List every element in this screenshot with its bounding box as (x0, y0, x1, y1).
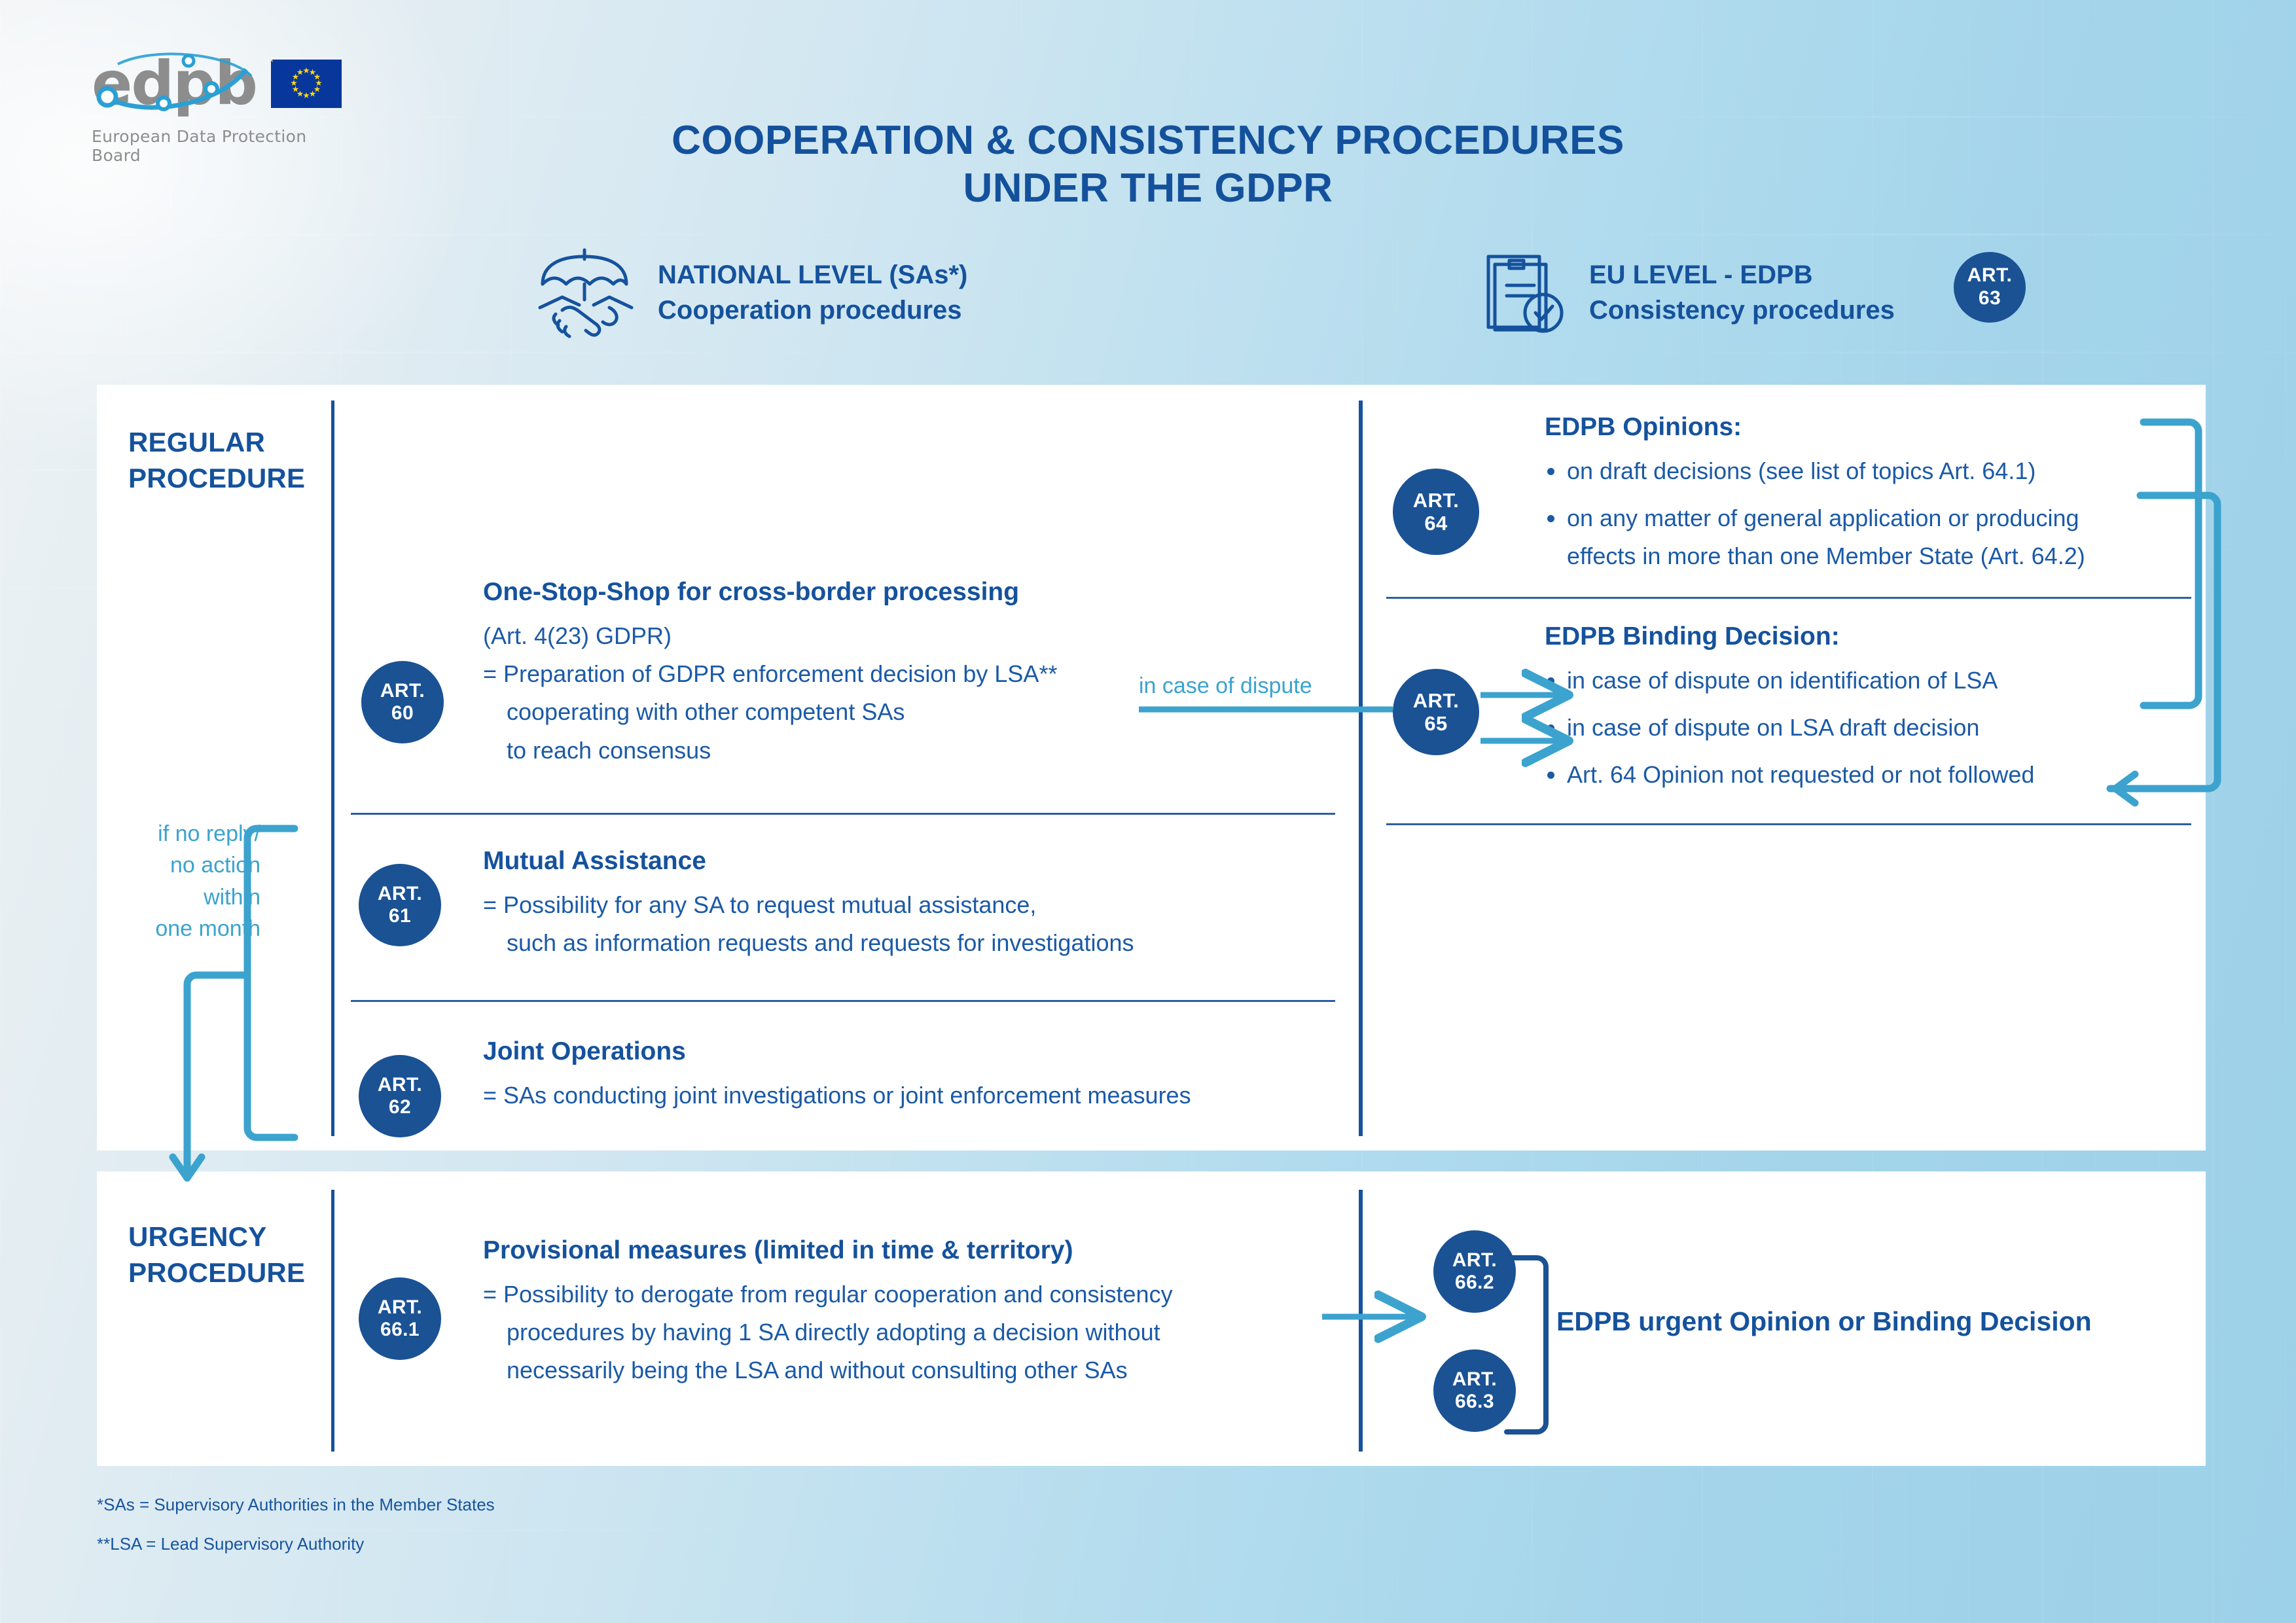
badge-art-63-num: 63 (1979, 287, 2001, 310)
badge-art-60-num: 60 (391, 702, 414, 724)
edpb-opinions-heading: EDPB Opinions: (1545, 412, 2206, 443)
document-check-icon (1478, 247, 1570, 339)
joint-operations-block: Joint Operations = SAs conducting joint … (483, 1037, 1347, 1115)
divider-vertical-right-urgency (1359, 1190, 1363, 1452)
badge-art-66-1: ART. 66.1 (359, 1277, 441, 1360)
eu-level-header: EU LEVEL - EDPB Consistency procedures (1478, 247, 1895, 339)
regular-procedure-label: REGULAR PROCEDURE (128, 424, 305, 497)
edpb-binding-bullets: in case of dispute on identification of … (1545, 662, 2206, 794)
edpb-opinions-bullet-1-cont: effects in more than one Member State (A… (1567, 537, 2206, 575)
badge-art-66-1-num: 66.1 (380, 1319, 420, 1341)
divider-binding-bottom (1386, 823, 2191, 825)
edpb-binding-decision-block: EDPB Binding Decision: in case of disput… (1545, 622, 2206, 804)
edpb-opinions-bullets: on draft decisions (see list of topics A… (1545, 452, 2206, 576)
badge-art-63: ART. 63 (1954, 252, 2026, 323)
badge-art-62-art: ART. (378, 1074, 422, 1096)
mutual-assistance-line1: = Possibility for any SA to request mutu… (483, 886, 1334, 924)
provisional-measures-line3: necessarily being the LSA and without co… (483, 1351, 1334, 1389)
list-item: Art. 64 Opinion not requested or not fol… (1545, 756, 2206, 794)
badge-art-66-2-num: 66.2 (1455, 1272, 1494, 1294)
divider-vertical-left-urgency (331, 1190, 334, 1452)
edpb-binding-bullet-1: in case of dispute on LSA draft decision (1567, 714, 1979, 741)
divider-oss-mutual (351, 813, 1335, 815)
national-level-line2: Cooperation procedures (658, 293, 967, 329)
mutual-assistance-heading: Mutual Assistance (483, 846, 1334, 877)
mutual-assistance-block: Mutual Assistance = Possibility for any … (483, 846, 1334, 962)
page-title-line2: UNDER THE GDPR (0, 164, 2296, 212)
eu-level-line1: EU LEVEL - EDPB (1589, 258, 1895, 293)
badge-art-63-art: ART. (1967, 264, 2013, 287)
national-level-header: NATIONAL LEVEL (SAs*) Cooperation proced… (533, 247, 967, 339)
footnote-sas: *SAs = Supervisory Authorities in the Me… (97, 1492, 495, 1518)
badge-art-60-art: ART. (380, 680, 425, 702)
badge-art-62: ART. 62 (359, 1055, 441, 1137)
badge-art-64-num: 64 (1424, 512, 1447, 535)
regular-procedure-label-line1: REGULAR (128, 424, 305, 460)
edpb-wordmark: edpb (92, 47, 257, 120)
edpb-opinions-bullet-0: on draft decisions (see list of topics A… (1567, 457, 2036, 484)
edpb-binding-heading: EDPB Binding Decision: (1545, 622, 2206, 652)
eu-flag-icon (271, 60, 342, 108)
badge-art-60: ART. 60 (361, 661, 444, 743)
badge-art-66-1-art: ART. (378, 1296, 422, 1319)
page-title-line1: COOPERATION & CONSISTENCY PROCEDURES (0, 116, 2296, 164)
edpb-binding-bullet-2: Art. 64 Opinion not requested or not fol… (1567, 761, 2034, 788)
urgency-procedure-label: URGENCY PROCEDURE (128, 1219, 305, 1291)
divider-mutual-joint (351, 1000, 1335, 1002)
badge-art-61-num: 61 (389, 905, 411, 927)
provisional-measures-heading: Provisional measures (limited in time & … (483, 1236, 1334, 1266)
edpb-opinions-bullet-1: on any matter of general application or … (1567, 505, 2079, 531)
list-item: in case of dispute on identification of … (1545, 662, 2206, 700)
badge-art-66-2: ART. 66.2 (1433, 1230, 1516, 1313)
one-stop-shop-sub: (Art. 4(23) GDPR) (483, 617, 1321, 655)
edpb-opinions-block: EDPB Opinions: on draft decisions (see l… (1545, 412, 2206, 585)
national-level-line1: NATIONAL LEVEL (SAs*) (658, 258, 967, 293)
urgency-procedure-label-line1: URGENCY (128, 1219, 305, 1255)
badge-art-66-3-num: 66.3 (1455, 1391, 1494, 1413)
badge-art-65-num: 65 (1424, 712, 1447, 735)
joint-operations-line1: = SAs conducting joint investigations or… (483, 1077, 1347, 1115)
national-level-text: NATIONAL LEVEL (SAs*) Cooperation proced… (658, 258, 967, 328)
provisional-measures-line1: = Possibility to derogate from regular c… (483, 1275, 1334, 1313)
footnote-lsa: **LSA = Lead Supervisory Authority (97, 1531, 364, 1557)
divider-vertical-right-regular (1359, 401, 1363, 1136)
list-item: in case of dispute on LSA draft decision (1545, 709, 2206, 747)
divider-opinions-binding (1386, 597, 2191, 599)
annotation-in-case-of-dispute: in case of dispute (1139, 670, 1312, 702)
badge-art-66-3: ART. 66.3 (1433, 1349, 1516, 1432)
badge-art-65-art: ART. (1413, 689, 1460, 712)
umbrella-handshake-icon (533, 247, 638, 339)
one-stop-shop-line3: to reach consensus (483, 732, 1321, 770)
provisional-measures-block: Provisional measures (limited in time & … (483, 1236, 1334, 1390)
urgency-result-text: EDPB urgent Opinion or Binding Decision (1556, 1306, 2172, 1338)
urgency-procedure-label-line2: PROCEDURE (128, 1255, 305, 1291)
list-item: on draft decisions (see list of topics A… (1545, 452, 2206, 490)
badge-art-66-2-art: ART. (1452, 1249, 1497, 1272)
badge-art-64: ART. 64 (1393, 469, 1479, 555)
joint-operations-heading: Joint Operations (483, 1037, 1347, 1067)
divider-vertical-left-regular (331, 401, 334, 1136)
badge-art-61-art: ART. (378, 883, 422, 905)
badge-art-64-art: ART. (1413, 489, 1460, 512)
badge-art-61: ART. 61 (359, 864, 441, 946)
badge-art-66-3-art: ART. (1452, 1368, 1497, 1391)
orbit-swoosh-icon (92, 47, 262, 120)
list-item: on any matter of general application or … (1545, 499, 2206, 576)
badge-art-62-num: 62 (389, 1096, 411, 1118)
eu-level-text: EU LEVEL - EDPB Consistency procedures (1589, 258, 1895, 328)
urgency-result-block: EDPB urgent Opinion or Binding Decision (1556, 1306, 2172, 1338)
regular-procedure-label-line2: PROCEDURE (128, 460, 305, 496)
page-title: COOPERATION & CONSISTENCY PROCEDURES UND… (0, 116, 2296, 212)
annotation-if-no-reply: if no reply/ no action within one month (122, 818, 260, 944)
provisional-measures-line2: procedures by having 1 SA directly adopt… (483, 1313, 1334, 1351)
one-stop-shop-heading: One-Stop-Shop for cross-border processin… (483, 577, 1321, 608)
edpb-binding-bullet-0: in case of dispute on identification of … (1567, 667, 1998, 694)
eu-level-line2: Consistency procedures (1589, 293, 1895, 329)
mutual-assistance-line2: such as information requests and request… (483, 924, 1334, 962)
badge-art-65: ART. 65 (1393, 669, 1479, 755)
